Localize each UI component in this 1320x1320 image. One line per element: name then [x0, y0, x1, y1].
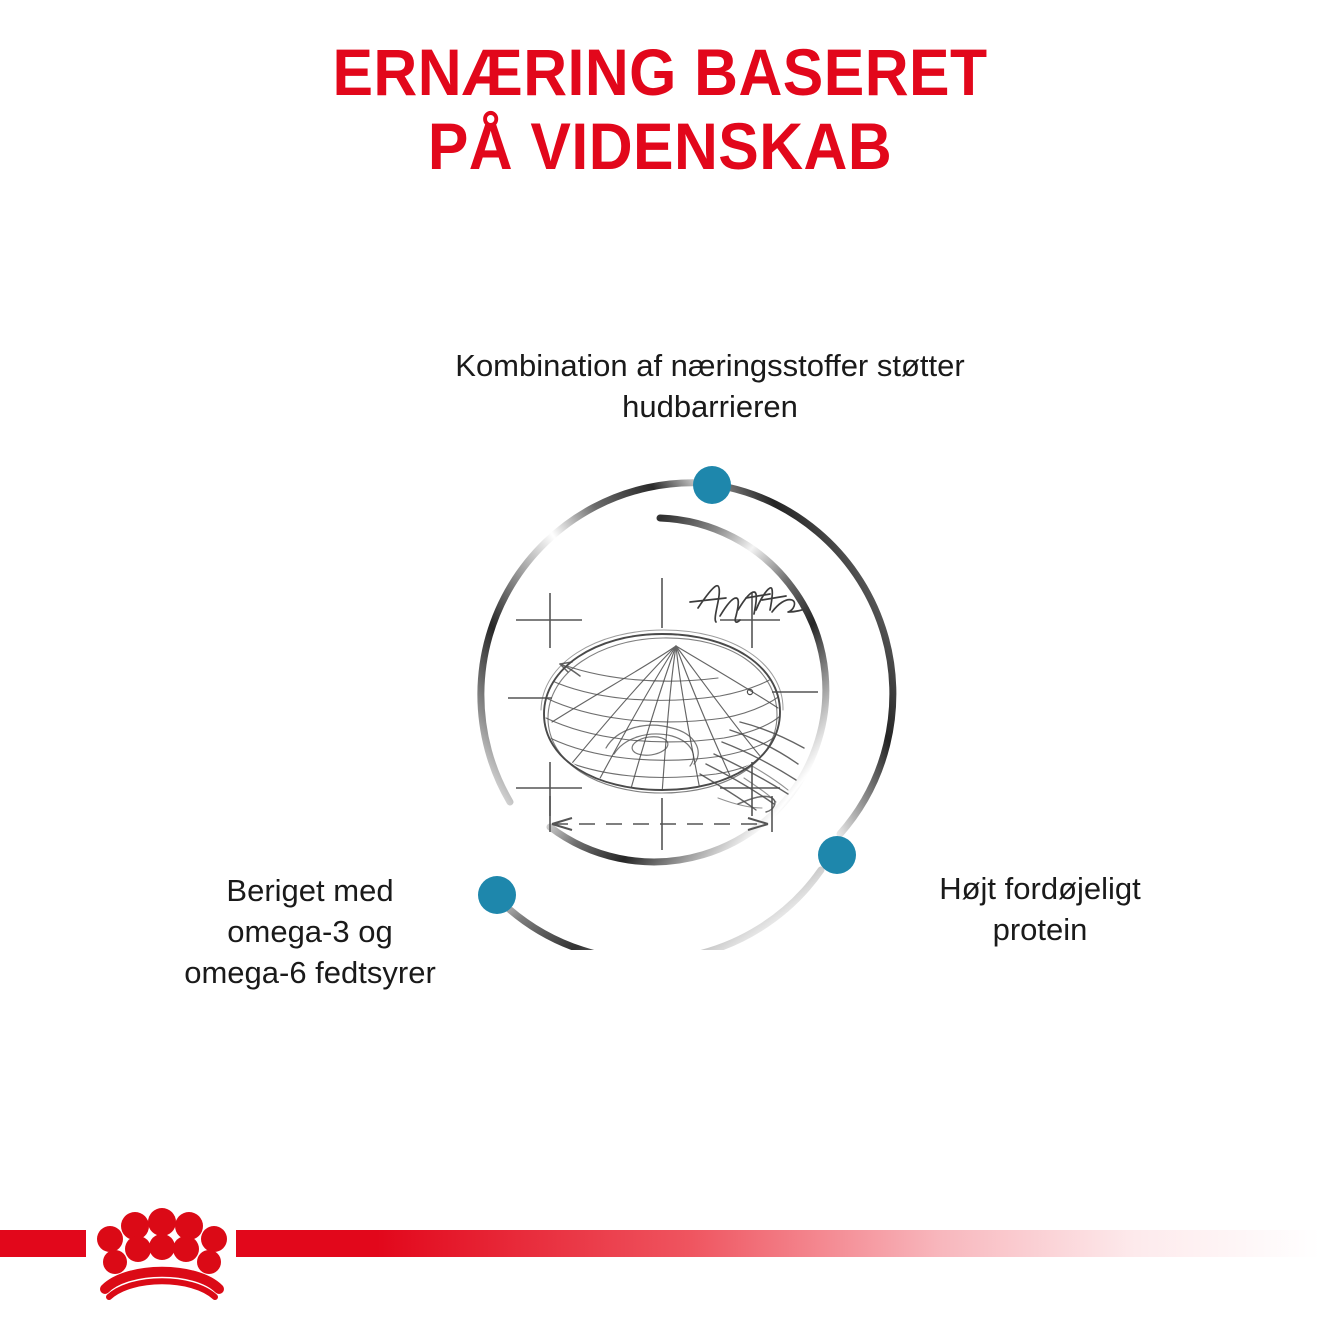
kibble-science-diagram	[400, 430, 920, 950]
callout-digestible-protein: Højt fordøjeligt protein	[880, 868, 1200, 950]
diagram-dot-bottom-left	[478, 876, 516, 914]
diagram-dot-bottom-right	[818, 836, 856, 874]
callout-nutrient-combination: Kombination af næringsstoffer støtter hu…	[330, 345, 1090, 427]
signature-scribble	[690, 586, 808, 622]
kibble-sketch	[541, 630, 804, 812]
footer	[0, 1188, 1320, 1320]
footer-bar-right	[236, 1230, 1320, 1257]
inner-ring-arc	[550, 518, 826, 862]
royal-canin-crown-logo	[88, 1196, 236, 1306]
dimension-line	[552, 818, 768, 830]
footer-bar-left	[0, 1230, 86, 1257]
diagram-dot-top	[693, 466, 731, 504]
page-title: ERNÆRING BASERET PÅ VIDENSKAB	[53, 36, 1267, 184]
